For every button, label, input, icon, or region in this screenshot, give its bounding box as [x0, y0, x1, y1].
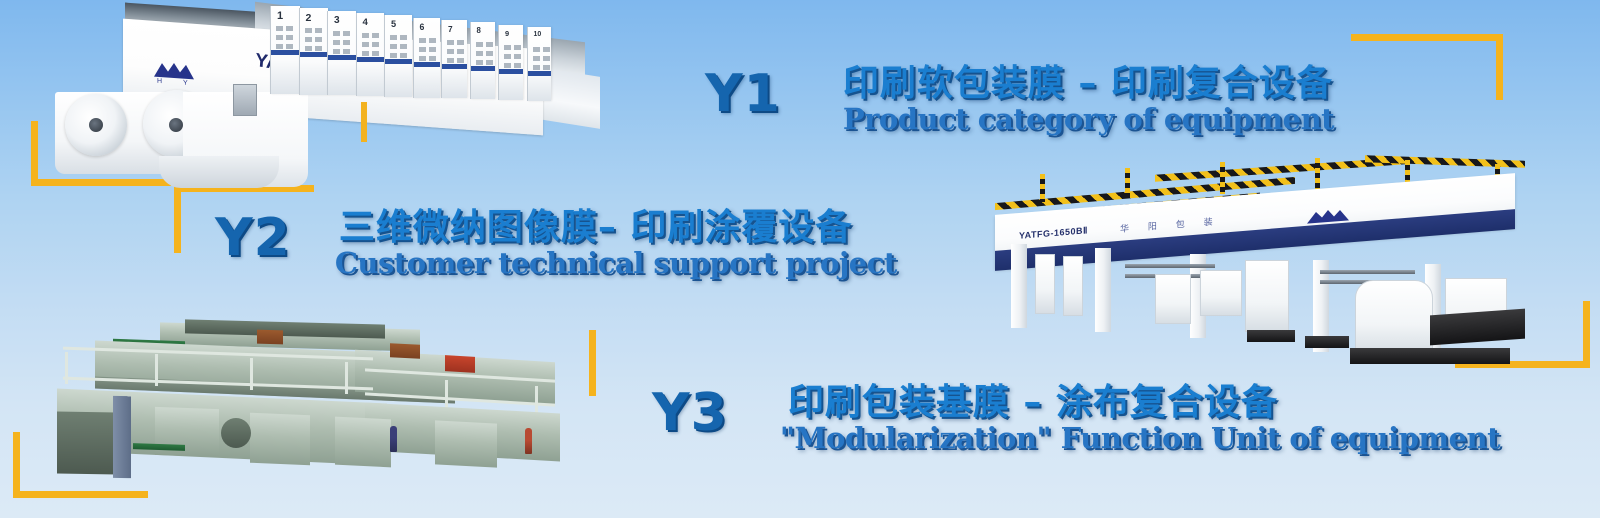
press-unit-switch	[486, 42, 493, 47]
press-unit-switch	[533, 56, 540, 61]
coater-rewind-head	[435, 420, 497, 467]
press-unit-switch	[390, 44, 397, 49]
coater-coating-head-2	[250, 413, 310, 466]
press-unit-switch	[343, 49, 350, 54]
laminator-photo: YATFG-1650BⅡ 华 阳 包 装	[975, 152, 1535, 367]
press-unit-stripe	[471, 66, 496, 71]
laminator-rail-post-2	[1125, 168, 1130, 198]
press-unit-number: 3	[334, 15, 340, 26]
press-lower-skirt	[159, 156, 279, 188]
laminator-cabinet-6	[1355, 280, 1433, 354]
press-print-unit: 6	[413, 18, 440, 98]
printing-press-photo: H Y YA10-1050CIIW 12345678910	[55, 6, 600, 184]
press-unit-switch	[276, 44, 283, 49]
bracket-bottom-left-vertical	[13, 432, 20, 498]
press-unit-number: 9	[505, 29, 509, 38]
laminator-cabinet-1	[1035, 254, 1055, 314]
press-unit-stripe	[499, 69, 523, 74]
press-unit-switch	[447, 49, 454, 54]
headline-en-y3: "Modularization" Function Unit of equipm…	[780, 423, 1500, 453]
press-unit-switch	[486, 60, 493, 65]
laminator-railing-rear	[1365, 155, 1525, 168]
laminator-cabinet-2	[1063, 256, 1083, 316]
press-unit-switch	[362, 33, 369, 38]
press-unit-switch	[457, 40, 464, 45]
press-unit-switch	[343, 31, 350, 36]
press-unit-stripe	[528, 71, 552, 76]
press-unit-switch	[400, 53, 407, 58]
press-print-unit: 7	[441, 20, 467, 98]
press-unit-switch	[419, 38, 426, 43]
headline-group-y3: Y3 印刷包装基膜 – 涂布复合设备 "Modularization" Func…	[652, 387, 1500, 453]
press-print-unit: 9	[498, 25, 523, 100]
laminator-base-1	[1247, 330, 1295, 342]
press-unit-stripe	[271, 50, 300, 55]
coater-unwind-stand	[57, 411, 117, 474]
coater-rust-unit-1	[257, 330, 283, 345]
press-unit-stripe	[357, 57, 384, 62]
press-unit-switch	[504, 45, 511, 50]
laminator-base-2	[1305, 336, 1349, 348]
press-unit-stripe	[385, 59, 412, 64]
press-unit-number: 5	[391, 19, 396, 29]
press-brand-logo: H Y	[150, 57, 198, 86]
press-print-unit: 10	[527, 27, 552, 101]
laminator-base-3	[1350, 348, 1510, 364]
headline-texts-y3: 印刷包装基膜 – 涂布复合设备 "Modularization" Functio…	[780, 384, 1500, 453]
svg-text:Y: Y	[183, 80, 188, 87]
laminator-brand-logo	[1305, 205, 1351, 229]
headline-cn-y1: 印刷软包装膜 – 印刷复合设备	[843, 65, 1334, 104]
press-unit-number: 8	[477, 26, 481, 35]
press-unit-switch	[305, 28, 312, 33]
press-print-unit: 8	[470, 22, 496, 99]
laminator-column-1	[1011, 244, 1027, 328]
laminator-base-4	[1430, 309, 1525, 346]
press-unit-switch	[543, 65, 550, 70]
press-unit-switch	[543, 47, 550, 52]
coater-web-roll	[113, 396, 131, 478]
laminator-roller-3	[1320, 270, 1415, 274]
coater-rail-post-a	[65, 352, 68, 384]
headline-group-y2: Y2 三维微纳图像膜– 印刷涂覆设备 Customer technical su…	[215, 212, 897, 278]
press-unit-stripe	[414, 62, 440, 67]
press-unit-switch	[333, 31, 340, 36]
press-unit-switch	[333, 40, 340, 45]
press-unit-switch	[457, 49, 464, 54]
coater-operator-2	[525, 428, 532, 454]
press-control-panel	[233, 84, 257, 116]
press-unit-number: 10	[534, 31, 542, 38]
press-unit-switch	[457, 58, 464, 63]
press-unit-switch	[533, 47, 540, 52]
press-unit-switch	[419, 56, 426, 61]
press-unit-switch	[305, 37, 312, 42]
press-unit-switch	[372, 42, 379, 47]
press-unit-switch	[362, 51, 369, 56]
bracket-top-right-vertical	[1496, 34, 1503, 100]
coater-coating-head-3	[335, 417, 391, 468]
equipment-category-banner: H Y YA10-1050CIIW 12345678910	[0, 0, 1600, 518]
press-unit-switch	[476, 51, 483, 56]
press-print-unit: 3	[327, 11, 356, 96]
press-unit-switch	[514, 63, 521, 68]
press-unit-switch	[315, 46, 322, 51]
press-unit-switch	[476, 42, 483, 47]
laminator-rail-post-3	[1220, 162, 1225, 194]
laminator-column-2	[1095, 248, 1111, 332]
press-unit-switch	[486, 51, 493, 56]
headline-texts-y1: 印刷软包装膜 – 印刷复合设备 Product category of equi…	[843, 65, 1334, 134]
headline-cn-y3: 印刷包装基膜 – 涂布复合设备	[788, 384, 1500, 423]
bracket-press-vertical	[174, 185, 181, 253]
press-print-unit: 2	[299, 8, 328, 94]
press-unit-switch	[286, 26, 293, 31]
press-hub-right	[169, 118, 183, 132]
press-unit-switch	[315, 28, 322, 33]
bracket-bottom-right-vertical	[1583, 301, 1590, 368]
press-unit-stripe	[300, 52, 328, 57]
press-unit-switch	[533, 65, 540, 70]
headline-texts-y2: 三维微纳图像膜– 印刷涂覆设备 Customer technical suppo…	[339, 209, 897, 278]
laminator-cabinet-4	[1245, 260, 1289, 332]
coater-red-unit	[445, 355, 475, 373]
press-unit-switch	[372, 51, 379, 56]
press-unit-switch	[543, 56, 550, 61]
press-unit-switch	[286, 35, 293, 40]
press-unit-number: 2	[306, 12, 312, 24]
bracket-top-left-vertical	[31, 121, 38, 186]
press-unit-switch	[286, 44, 293, 49]
bracket-coater-vertical	[589, 330, 596, 396]
headline-code-y1: Y1	[705, 68, 781, 120]
headline-code-y2: Y2	[215, 212, 291, 264]
coater-rail-post-d	[345, 362, 348, 394]
press-unit-switch	[315, 37, 322, 42]
press-unit-switch	[504, 63, 511, 68]
press-unit-switch	[429, 47, 436, 52]
press-unit-switch	[476, 60, 483, 65]
press-unit-switch	[400, 35, 407, 40]
coater-rail-post-b	[155, 354, 158, 386]
press-unit-switch	[362, 42, 369, 47]
coater-rust-unit-2	[390, 343, 420, 359]
press-unit-stripe	[328, 55, 356, 60]
press-unit-number: 6	[420, 22, 425, 32]
press-unit-switch	[429, 56, 436, 61]
press-unit-switch	[276, 26, 283, 31]
laminator-cabinet-5	[1200, 270, 1242, 316]
coater-operator-1	[390, 426, 397, 452]
coater-drum-1	[221, 418, 251, 448]
bracket-top-right-horizontal	[1351, 34, 1503, 41]
press-unit-switch	[276, 35, 283, 40]
coater-rail-post-e	[445, 380, 448, 410]
press-yellow-marker	[361, 102, 367, 142]
press-unit-switch	[305, 46, 312, 51]
press-unit-number: 1	[277, 10, 283, 22]
laminator-rail-post-1	[1040, 174, 1045, 202]
press-unit-switch	[447, 58, 454, 63]
headline-en-y1: Product category of equipment	[843, 104, 1334, 134]
press-unit-switch	[390, 35, 397, 40]
press-unit-number: 7	[448, 24, 453, 34]
coating-line-photo	[35, 322, 575, 477]
press-unit-switch	[333, 49, 340, 54]
press-unit-stripe	[442, 64, 467, 69]
headline-group-y1: Y1 印刷软包装膜 – 印刷复合设备 Product category of e…	[705, 68, 1334, 134]
headline-en-y2: Customer technical support project	[335, 248, 897, 278]
press-print-unit: 1	[270, 6, 300, 94]
press-unit-switch	[343, 40, 350, 45]
coater-rail-post-c	[250, 358, 253, 390]
press-unit-switch	[447, 40, 454, 45]
headline-cn-y2: 三维微纳图像膜– 印刷涂覆设备	[339, 209, 897, 248]
press-unit-switch	[400, 44, 407, 49]
press-unit-switch	[390, 53, 397, 58]
press-unit-switch	[514, 54, 521, 59]
press-print-unit: 4	[356, 13, 384, 96]
press-unit-switch	[419, 47, 426, 52]
laminator-rail-post-4	[1315, 158, 1320, 192]
press-unit-switch	[429, 38, 436, 43]
press-unit-switch	[372, 33, 379, 38]
laminator-roller-1	[1125, 264, 1215, 268]
press-unit-number: 4	[363, 17, 368, 28]
press-unit-switch	[514, 45, 521, 50]
press-unit-switch	[504, 54, 511, 59]
laminator-cabinet-3	[1155, 274, 1191, 324]
press-print-unit: 5	[384, 15, 412, 97]
headline-code-y3: Y3	[652, 387, 728, 439]
press-hub-left	[89, 118, 103, 132]
bracket-bottom-left-horizontal	[13, 491, 148, 498]
